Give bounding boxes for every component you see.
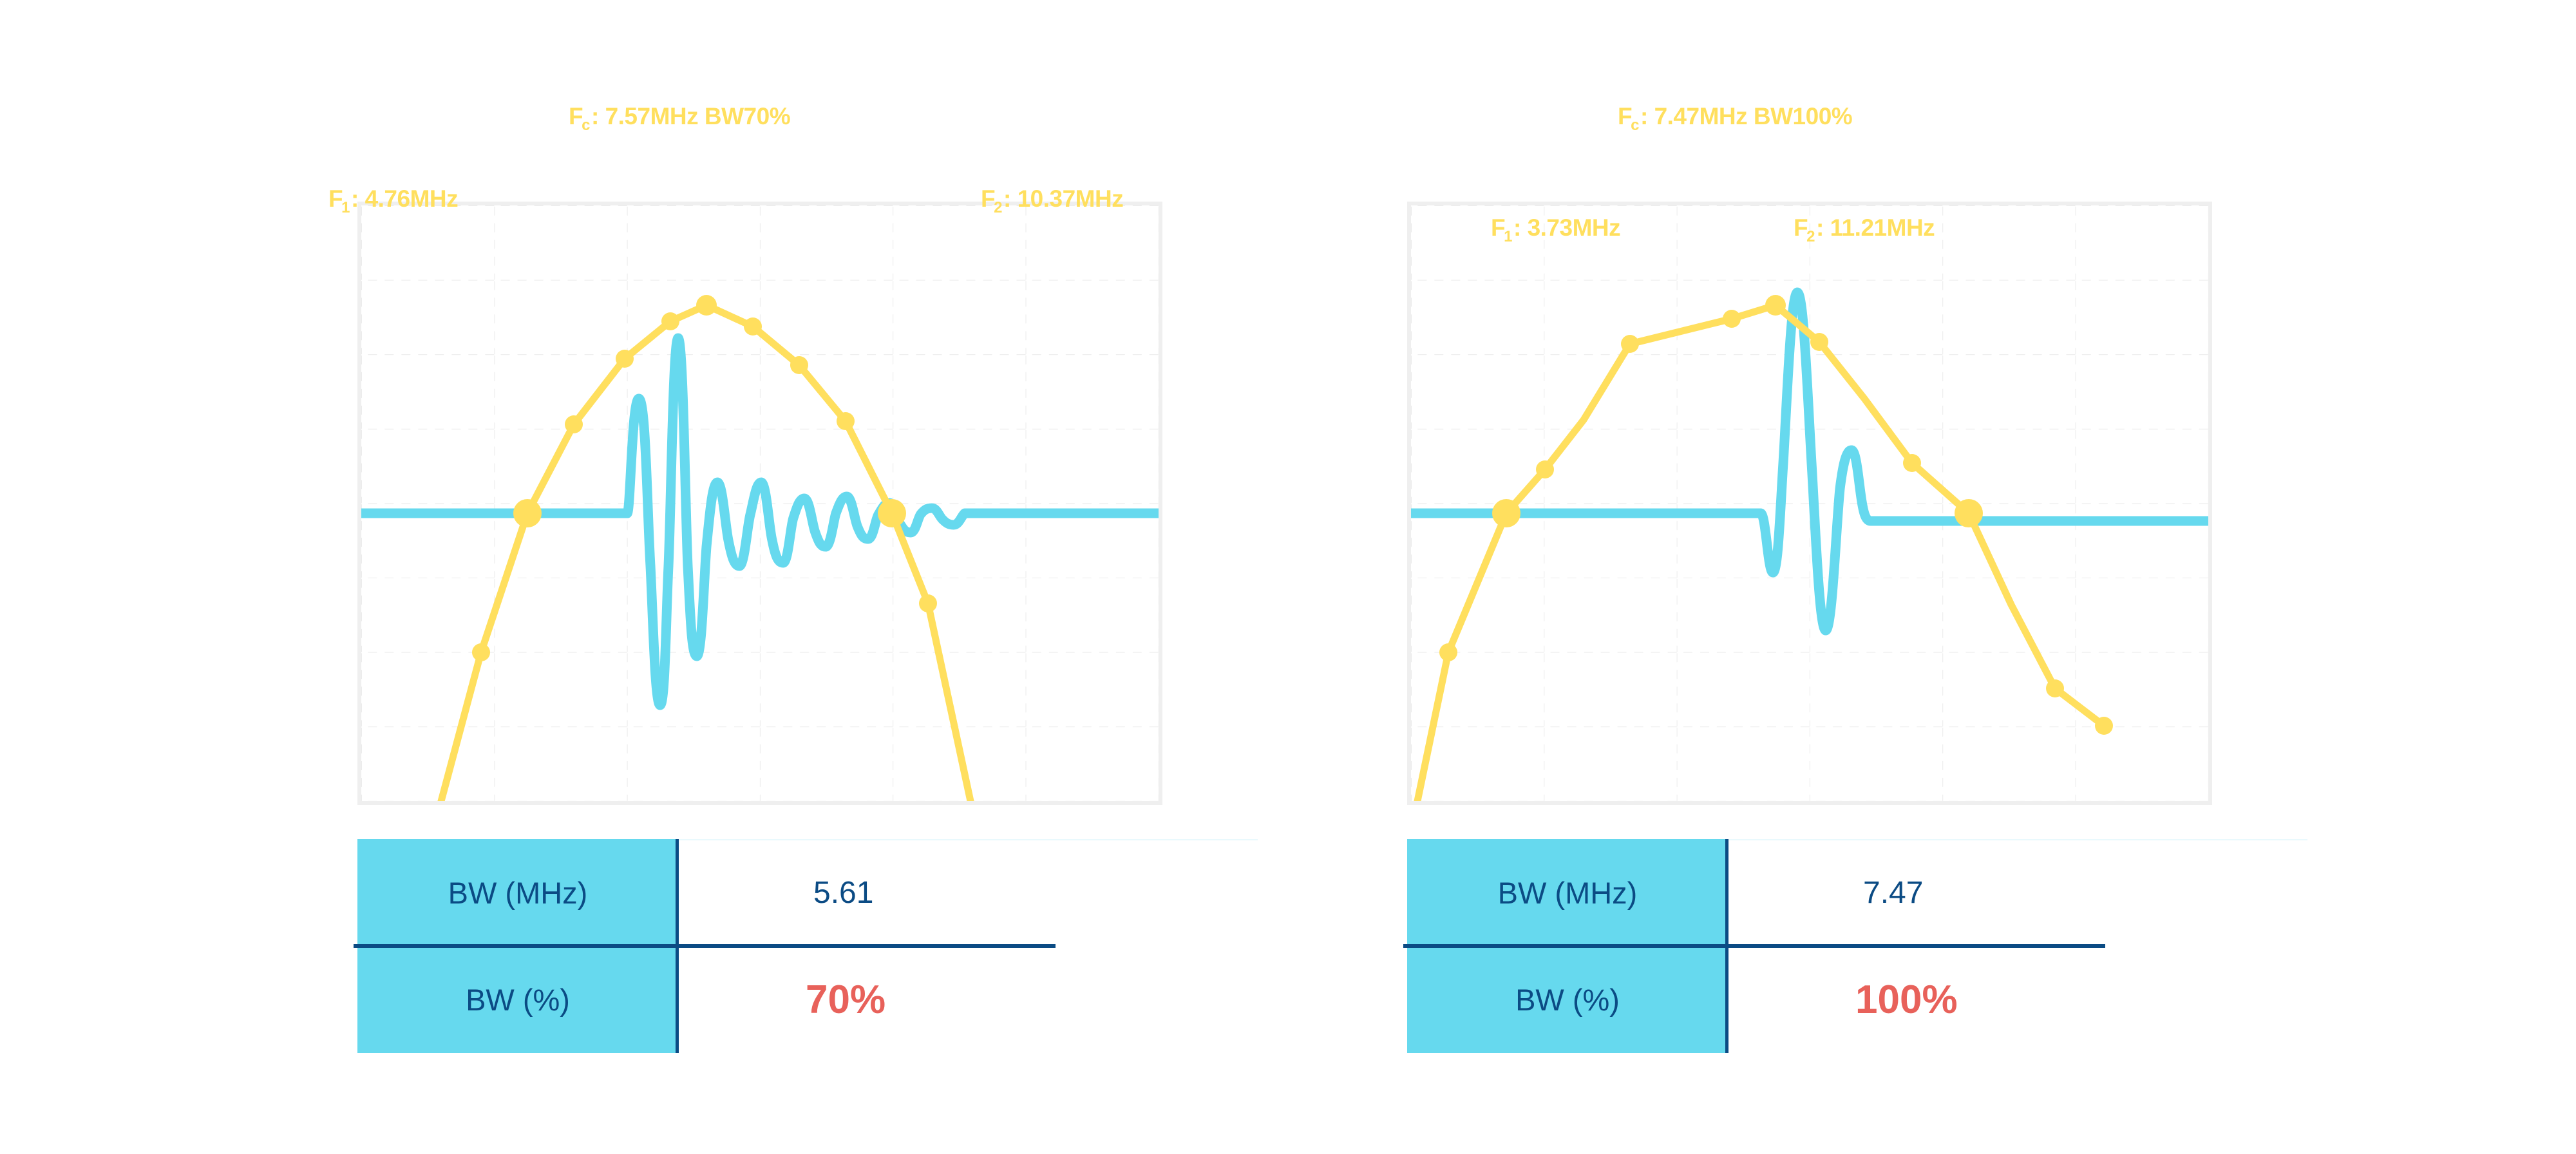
panel-broadband: Fc: 7.47MHz BW100% F1: 3.73MHz F2: 11.21… <box>1372 0 2209 1154</box>
f1-symbol-right: F <box>1491 214 1505 241</box>
table-top-rule-right <box>1728 839 2307 840</box>
fc-text-right: : 7.47MHz BW100% <box>1640 103 1852 129</box>
chart-svg-right <box>1411 205 2208 801</box>
f1-subscript-right: 1 <box>1504 228 1512 245</box>
f1-text-left: : 4.76MHz <box>351 185 458 212</box>
f2-text-right: : 11.21MHz <box>1816 214 1935 241</box>
f1-symbol-left: F <box>328 185 343 212</box>
annotation-center-frequency-left: Fc: 7.57MHz BW70% <box>569 104 790 128</box>
chart-broadband-100pct <box>1407 202 2212 805</box>
f2-symbol-right: F <box>1794 214 1808 241</box>
f1-subscript-left: 1 <box>341 199 350 216</box>
f2-subscript-left: 2 <box>994 199 1002 216</box>
table-value-bw-mhz-right: 7.47 <box>1728 839 2212 946</box>
annotation-lower-cutoff-left: F1: 4.76MHz <box>328 187 458 211</box>
annotation-center-frequency-right: Fc: 7.47MHz BW100% <box>1618 104 1852 128</box>
panel-narrowband: Fc: 7.57MHz BW70% F1: 4.76MHz F2: 10.37M… <box>322 0 1159 1154</box>
table-top-rule-left <box>678 839 1258 840</box>
fc-symbol-right: F <box>1618 103 1632 129</box>
table-column-rule-left <box>676 839 679 1053</box>
table-value-bw-pct-left: 70% <box>678 946 1162 1053</box>
annotation-upper-cutoff-right: F2: 11.21MHz <box>1794 216 1935 240</box>
chart-grid-left <box>361 205 1159 801</box>
annotation-upper-cutoff-left: F2: 10.37MHz <box>981 187 1123 211</box>
f2-text-left: : 10.37MHz <box>1003 185 1123 212</box>
bandwidth-table-left: BW (MHz) 5.61 BW (%) 70% <box>357 839 1162 1053</box>
table-value-bw-mhz-left: 5.61 <box>678 839 1162 946</box>
fc-symbol-left: F <box>569 103 583 129</box>
table-header-bw-mhz-left: BW (MHz) <box>357 839 678 946</box>
chart-narrowband-70pct <box>357 202 1162 805</box>
table-value-bw-pct-right: 100% <box>1728 946 2212 1053</box>
f1-text-right: : 3.73MHz <box>1513 214 1620 241</box>
table-header-bw-pct-left: BW (%) <box>357 946 678 1053</box>
annotation-lower-cutoff-right: F1: 3.73MHz <box>1491 216 1620 240</box>
f2-subscript-right: 2 <box>1806 228 1815 245</box>
table-middle-rule-right <box>1403 944 2105 948</box>
table-row: BW (%) 70% <box>357 946 1162 1053</box>
bandwidth-table-right: BW (MHz) 7.47 BW (%) 100% <box>1407 839 2212 1053</box>
chart-svg-left <box>361 205 1159 801</box>
figure-canvas: Fc: 7.57MHz BW70% F1: 4.76MHz F2: 10.37M… <box>0 0 2576 1154</box>
table-row: BW (MHz) 7.47 <box>1407 839 2212 946</box>
f2-symbol-left: F <box>981 185 995 212</box>
table-header-bw-pct-right: BW (%) <box>1407 946 1728 1053</box>
fc-subscript-right: c <box>1631 117 1639 134</box>
table-middle-rule-left <box>354 944 1056 948</box>
table-row: BW (MHz) 5.61 <box>357 839 1162 946</box>
fc-subscript-left: c <box>582 117 590 134</box>
table-column-rule-right <box>1725 839 1728 1053</box>
table-header-bw-mhz-right: BW (MHz) <box>1407 839 1728 946</box>
table-row: BW (%) 100% <box>1407 946 2212 1053</box>
fc-text-left: : 7.57MHz BW70% <box>591 103 790 129</box>
